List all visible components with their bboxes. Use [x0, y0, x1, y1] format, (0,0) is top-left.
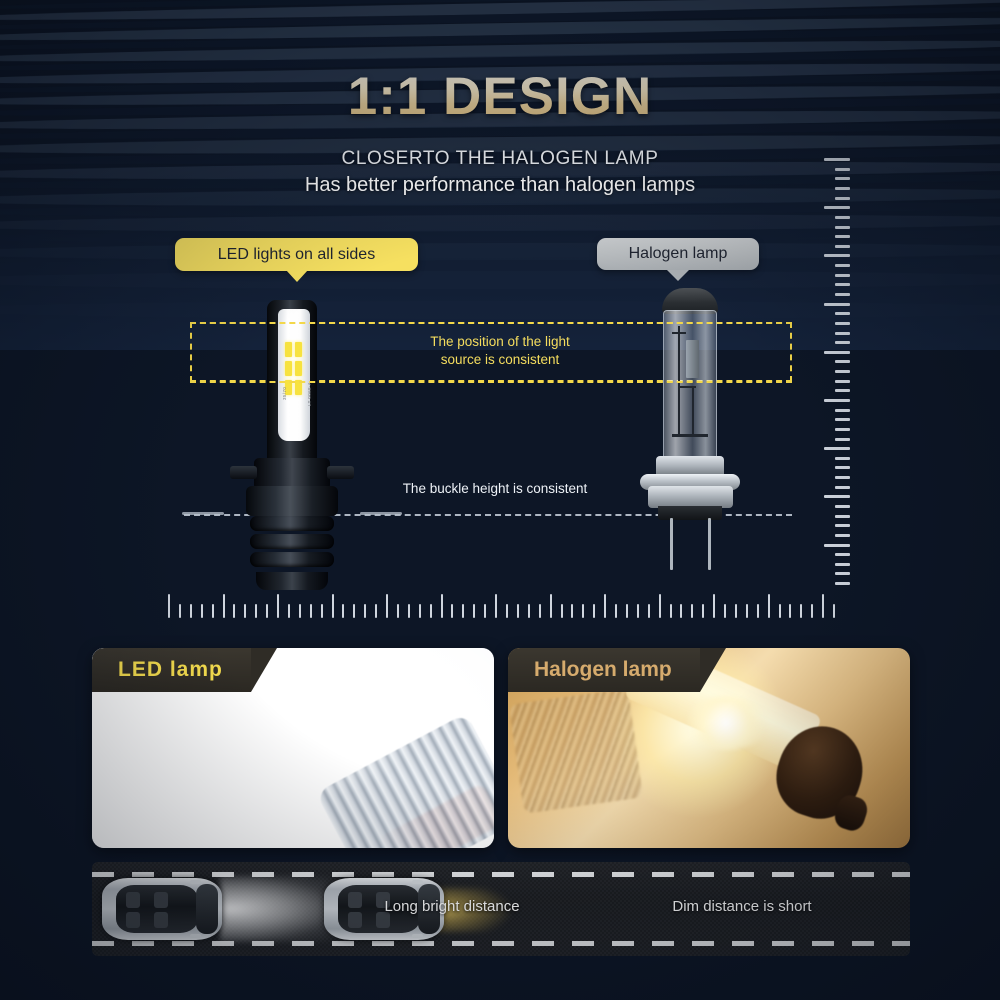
ruler-tick [364, 604, 366, 618]
car-top-view-led [102, 878, 222, 940]
ruler-tick [233, 604, 235, 618]
ruler-tick [321, 604, 323, 618]
ruler-tick [824, 206, 850, 209]
ruler-tick [310, 604, 312, 618]
car-seat [154, 892, 168, 908]
halogen-photo-hotspot [683, 696, 769, 750]
halogen-panel-label: Halogen lamp [534, 658, 672, 682]
ruler-tick [822, 594, 824, 618]
led-bulb-ring-1 [250, 516, 334, 531]
ruler-tick [244, 604, 246, 618]
ruler-tick [824, 351, 850, 354]
ruler-tick [255, 604, 257, 618]
ruler-tick [835, 466, 850, 469]
led-lamp-photo-panel: LED lamp [92, 648, 494, 848]
halogen-bulb-illustration [632, 288, 750, 584]
ruler-tick [190, 604, 192, 618]
ruler-tick [353, 604, 355, 618]
ruler-tick [386, 594, 388, 618]
ruler-tick [835, 226, 850, 229]
ruler-tick [835, 168, 850, 171]
ruler-tick [835, 322, 850, 325]
road-comparison-strip: Long bright distance Dim distance is sho… [92, 862, 910, 956]
ruler-tick [342, 604, 344, 618]
ruler-tick [824, 399, 850, 402]
led-bulb-illustration: 35/70 LT 0068-A [222, 300, 362, 590]
led-panel-label: LED lamp [118, 658, 223, 682]
ruler-tick [835, 235, 850, 238]
led-bulb-ring-2 [250, 534, 334, 549]
ruler-tick [757, 604, 759, 618]
ruler-tick [528, 604, 530, 618]
ruler-tick [835, 197, 850, 200]
ruler-tick [680, 604, 682, 618]
ruler-tick [626, 604, 628, 618]
ruler-tick [835, 524, 850, 527]
led-bulb-tab-right [327, 466, 354, 479]
ruler-tick [288, 604, 290, 618]
ruler-tick [713, 594, 715, 618]
callout-halogen-lamp: Halogen lamp [597, 238, 759, 270]
car-mirror-right [190, 934, 201, 938]
ruler-tick [517, 604, 519, 618]
callout-led-label: LED lights on all sides [218, 246, 375, 264]
ruler-tick [835, 332, 850, 335]
car-seat [126, 892, 140, 908]
ruler-tick [835, 418, 850, 421]
ruler-tick [824, 495, 850, 498]
ruler-tick [670, 604, 672, 618]
ruler-tick [800, 604, 802, 618]
ruler-tick [702, 604, 704, 618]
ruler-tick [637, 604, 639, 618]
light-source-bottom-guide [190, 381, 792, 383]
led-photo-haze [234, 698, 494, 848]
ruler-tick [835, 428, 850, 431]
led-bulb-pin-left [182, 512, 224, 515]
led-chip [295, 361, 302, 376]
ruler-tick [835, 563, 850, 566]
led-panel-ribbon: LED lamp [92, 648, 251, 692]
ruler-tick [539, 604, 541, 618]
road-lane-marking-bottom [92, 941, 910, 946]
ruler-tick [835, 409, 850, 412]
led-bulb-ring-3 [250, 552, 334, 567]
ruler-tick [835, 274, 850, 277]
ruler-tick [833, 604, 835, 618]
ruler-tick [332, 594, 334, 618]
light-source-annotation: The position of the light source is cons… [405, 333, 595, 369]
ruler-tick [223, 594, 225, 618]
ruler-tick [835, 505, 850, 508]
ruler-tick [648, 604, 650, 618]
light-source-annotation-line1: The position of the light [405, 333, 595, 351]
halogen-base-flange-lower [648, 486, 733, 508]
ruler-tick [835, 360, 850, 363]
ruler-tick [835, 515, 850, 518]
ruler-tick [835, 264, 850, 267]
ruler-tick [835, 187, 850, 190]
ruler-tick [593, 604, 595, 618]
ruler-tick [835, 312, 850, 315]
ruler-tick [473, 604, 475, 618]
ruler-tick [430, 604, 432, 618]
halogen-filament-cross-1 [678, 386, 696, 388]
ruler-tick [835, 553, 850, 556]
led-chip [295, 342, 302, 357]
ruler-tick [746, 604, 748, 618]
halogen-filament-wire-2 [692, 388, 694, 436]
road-lane-marking-top [92, 872, 910, 877]
car-mirror-left [412, 880, 423, 884]
ruler-tick [561, 604, 563, 618]
ruler-tick [824, 447, 850, 450]
led-bulb-tab-left [230, 466, 257, 479]
led-chip [285, 342, 292, 357]
ruler-tick [266, 604, 268, 618]
led-road-caption: Long bright distance [342, 898, 562, 915]
ruler-tick [824, 544, 850, 547]
ruler-tick [835, 245, 850, 248]
halogen-lamp-photo-panel: Halogen lamp [508, 648, 910, 848]
ruler-tick [615, 604, 617, 618]
subtitle-primary: CLOSERTO THE HALOGEN LAMP [0, 148, 1000, 170]
page-title: 1:1 DESIGN [0, 66, 1000, 127]
led-chip [285, 361, 292, 376]
ruler-tick [495, 594, 497, 618]
ruler-tick [835, 380, 850, 383]
ruler-tick [824, 303, 850, 306]
ruler-tick [299, 604, 301, 618]
ruler-tick [506, 604, 508, 618]
ruler-tick [484, 604, 486, 618]
led-chip-marking-right: LT 0068-A [307, 382, 312, 406]
car-mirror-left [190, 880, 201, 884]
ruler-tick [419, 604, 421, 618]
ruler-tick [768, 594, 770, 618]
ruler-tick [824, 158, 850, 161]
vertical-ruler [820, 158, 850, 582]
ruler-tick [168, 594, 170, 618]
ruler-tick [835, 293, 850, 296]
ruler-tick [462, 604, 464, 618]
car-windshield [196, 884, 218, 934]
callout-led-lights: LED lights on all sides [175, 238, 418, 271]
led-bulb-collar [246, 486, 338, 516]
ruler-tick [724, 604, 726, 618]
ruler-tick [659, 594, 661, 618]
halogen-base-pin-left [670, 518, 673, 570]
ruler-tick [835, 486, 850, 489]
ruler-tick [212, 604, 214, 618]
led-chip-marking-left: 35/70 [282, 387, 287, 400]
halogen-filament-base-bar [672, 434, 708, 437]
halogen-road-caption: Dim distance is short [592, 898, 892, 915]
car-mirror-right [412, 934, 423, 938]
ruler-tick [408, 604, 410, 618]
ruler-tick [441, 594, 443, 618]
callout-halogen-label: Halogen lamp [629, 245, 728, 263]
halogen-filament-shield [686, 340, 699, 378]
subtitle-secondary: Has better performance than halogen lamp… [0, 174, 1000, 197]
halogen-filament-cross-2 [672, 332, 686, 334]
ruler-tick [582, 604, 584, 618]
ruler-tick [789, 604, 791, 618]
halogen-photo-coil [509, 688, 643, 814]
ruler-tick [835, 283, 850, 286]
ruler-tick [835, 572, 850, 575]
buckle-annotation: The buckle height is consistent [330, 481, 660, 496]
led-chip-array [285, 342, 302, 398]
ruler-tick [835, 457, 850, 460]
led-bulb-pin-right [360, 512, 402, 515]
ruler-tick [811, 604, 813, 618]
ruler-tick [604, 594, 606, 618]
ruler-tick [835, 370, 850, 373]
ruler-tick [835, 476, 850, 479]
ruler-tick [835, 582, 850, 585]
ruler-tick [179, 604, 181, 618]
ruler-tick [835, 341, 850, 344]
car-seat [126, 912, 140, 928]
ruler-tick [691, 604, 693, 618]
ruler-tick [550, 594, 552, 618]
horizontal-ruler [168, 592, 833, 618]
ruler-tick [835, 438, 850, 441]
halogen-panel-ribbon: Halogen lamp [508, 648, 700, 692]
ruler-tick [375, 604, 377, 618]
ruler-tick [277, 594, 279, 618]
ruler-tick [201, 604, 203, 618]
ruler-tick [835, 389, 850, 392]
ruler-tick [779, 604, 781, 618]
product-infographic: 1:1 DESIGN CLOSERTO THE HALOGEN LAMP Has… [0, 0, 1000, 1000]
ruler-tick [451, 604, 453, 618]
light-source-top-guide [190, 322, 792, 324]
ruler-tick [397, 604, 399, 618]
car-seat [154, 912, 168, 928]
ruler-tick [835, 534, 850, 537]
halogen-base-skirt [658, 506, 722, 520]
ruler-tick [835, 216, 850, 219]
ruler-tick [735, 604, 737, 618]
halogen-base-pin-right [708, 518, 711, 570]
led-bulb-base [256, 572, 328, 590]
light-source-annotation-line2: source is consistent [405, 351, 595, 369]
ruler-tick [824, 254, 850, 257]
ruler-tick [571, 604, 573, 618]
ruler-tick [835, 177, 850, 180]
